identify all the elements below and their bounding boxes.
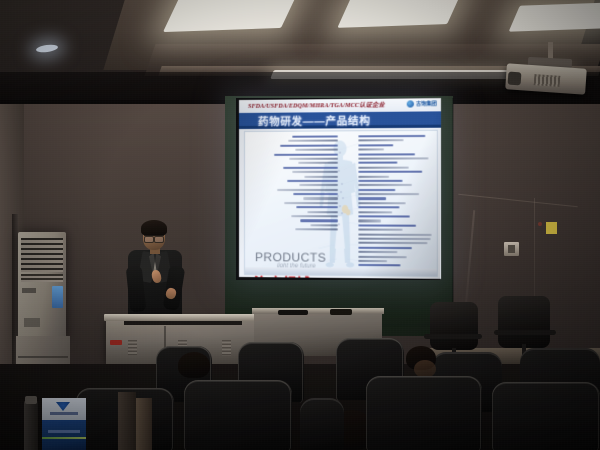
- conference-room-photo: SFDA/USFDA/EDQM/MHRA/TGA/MCC认证企业 古饱集团 药物…: [0, 0, 600, 450]
- audience-seat: [366, 376, 482, 450]
- slide-content-area: PRODUCTS light the future 治疗领域>>> 产品 结构图…: [244, 130, 438, 277]
- slide-left-text-column: [269, 135, 338, 233]
- lectern-vent: [128, 340, 137, 356]
- lectern-top: [104, 314, 256, 321]
- chair-armrest: [494, 330, 556, 335]
- audience-seat: [184, 380, 292, 450]
- ceiling-light-panel-2: [337, 0, 460, 28]
- ac-grille: [21, 238, 63, 272]
- slide-headline: SFDA/USFDA/EDQM/MHRA/TGA/MCC认证企业: [248, 100, 385, 110]
- slide-right-text-column: [358, 135, 434, 269]
- lectern-slot: [124, 321, 242, 325]
- water-bottle: [24, 400, 38, 450]
- carton-lower-band: [42, 420, 86, 450]
- wall-socket-plate[interactable]: [504, 242, 519, 256]
- ac-badge: [52, 286, 63, 308]
- desk-equipment: [330, 309, 352, 315]
- projection-screen: SFDA/USFDA/EDQM/MHRA/TGA/MCC认证企业 古饱集团 药物…: [239, 98, 441, 279]
- audience-seat: [492, 382, 600, 450]
- ac-logo: [22, 288, 36, 293]
- ac-label: [24, 318, 40, 327]
- carton-text-line: [50, 412, 78, 415]
- audience-seat: [300, 398, 344, 450]
- presenter-hair: [141, 220, 167, 236]
- company-logo: 古饱集团: [407, 100, 437, 107]
- slide-title: 药物研发——产品结构: [258, 113, 371, 129]
- ceiling-light-panel-1: [163, 0, 299, 32]
- lectern-red-marker: [110, 340, 122, 345]
- projector-vent: [534, 74, 561, 87]
- logo-text: 古饱集团: [416, 100, 437, 107]
- lectern-vent: [222, 340, 231, 356]
- wall-sticker: [546, 222, 557, 234]
- ac-base-seam: [18, 356, 68, 358]
- chair-armrest: [424, 334, 482, 339]
- side-cabinet-panel: [136, 398, 152, 450]
- eyeglasses-icon: [144, 235, 164, 241]
- executive-chair: [430, 302, 478, 350]
- projector-lens: [508, 72, 522, 86]
- ac-grille-lower: [21, 274, 63, 282]
- bottle-cap: [25, 396, 37, 404]
- carton-stripe: [42, 437, 86, 439]
- logo-mark-icon: [407, 100, 414, 107]
- desk-equipment: [278, 310, 308, 315]
- wall-nail-dot: [538, 222, 542, 226]
- executive-chair: [498, 296, 550, 348]
- audience-head: [178, 352, 210, 378]
- side-cabinet: [118, 392, 136, 450]
- front-desk-top: [252, 308, 384, 314]
- carton-text-line: [48, 430, 80, 433]
- ceiling-light-panel-3: [509, 2, 600, 31]
